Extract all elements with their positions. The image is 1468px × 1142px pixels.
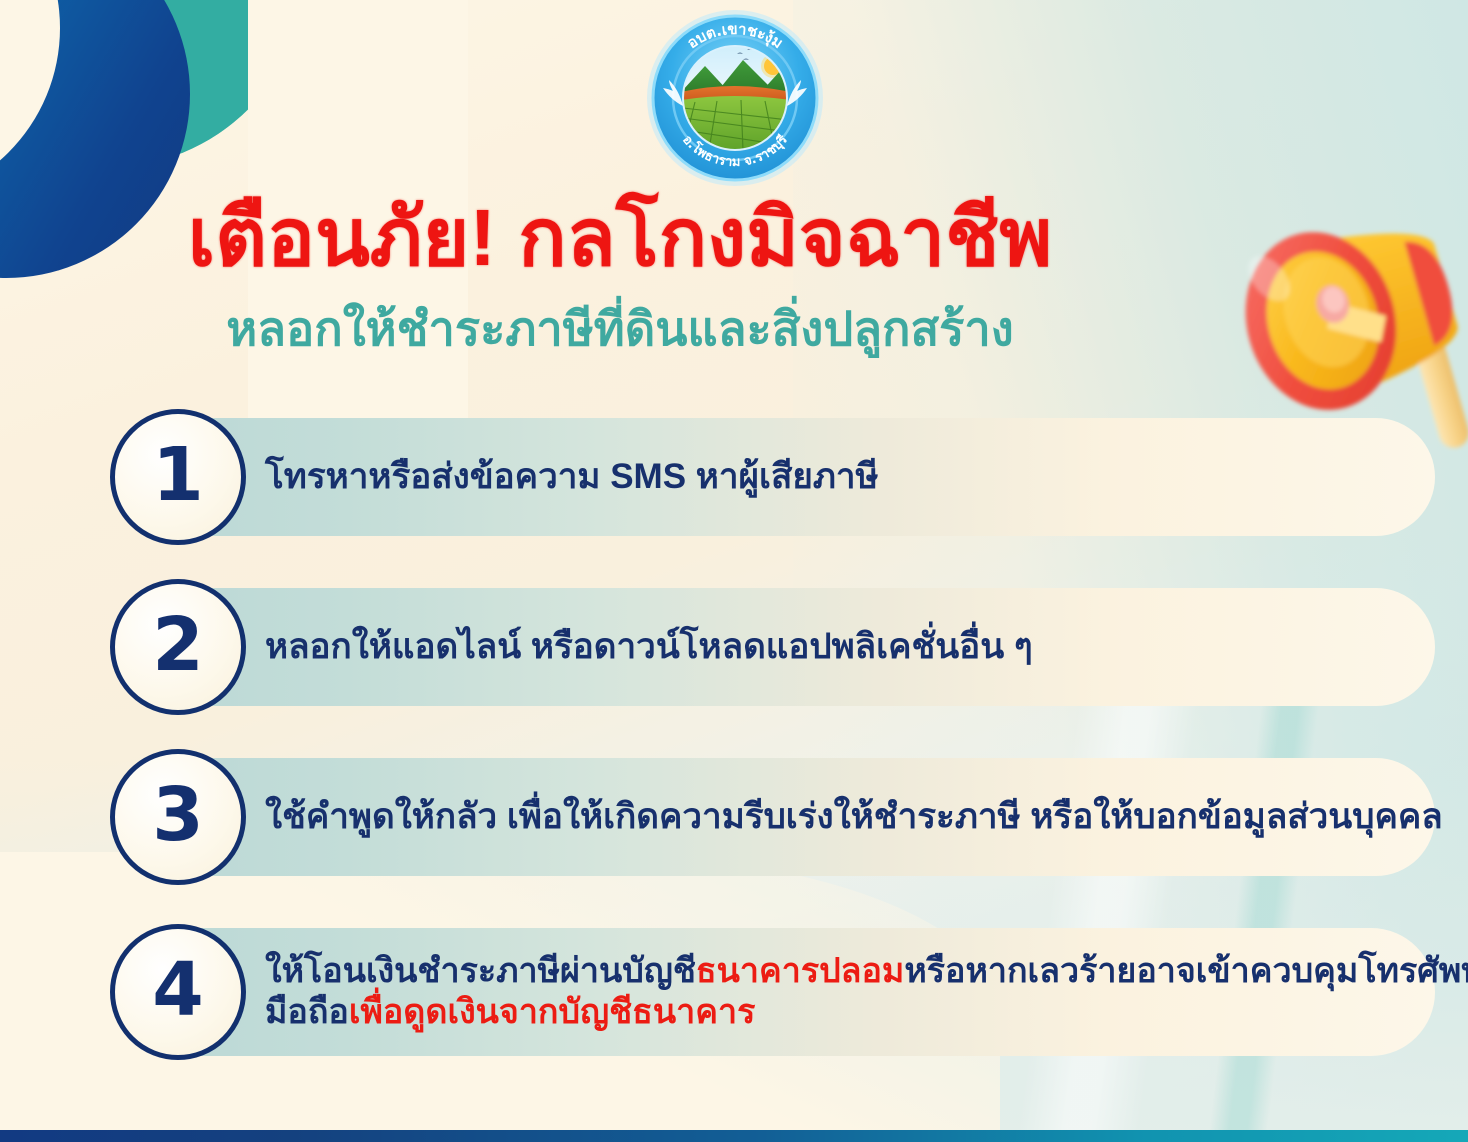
logo-emblem-icon: อบต.เขาชะงุ้ม อ.โพธาราม จ.ราชบุรี (633, 8, 838, 188)
text-segment: โทรหาหรือส่งข้อความ SMS หาผู้เสียภาษี (265, 457, 879, 496)
text-segment-highlighted: ธนาคารปลอม (696, 952, 904, 990)
list-item-text: หลอกให้แอดไลน์ หรือดาวน์โหลดแอปพลิเคชั่น… (265, 588, 1033, 706)
text-segment-highlighted: เพื่อดูดเงินจากบัญชีธนาคาร (349, 993, 756, 1031)
list-item-number-badge: 2 (110, 579, 246, 715)
list-item-number: 4 (152, 953, 204, 1027)
list-item-line: ใช้คำพูดให้กลัว เพื่อให้เกิดความรีบเร่งใ… (265, 796, 1443, 839)
list-item-number: 3 (152, 778, 204, 852)
list-item-text: ใช้คำพูดให้กลัว เพื่อให้เกิดความรีบเร่งใ… (265, 758, 1443, 876)
list-item-text: โทรหาหรือส่งข้อความ SMS หาผู้เสียภาษี (265, 418, 879, 536)
list-item-number: 2 (152, 608, 204, 682)
bottom-accent-strip (0, 1130, 1468, 1142)
list-item-line: หลอกให้แอดไลน์ หรือดาวน์โหลดแอปพลิเคชั่น… (265, 626, 1033, 669)
list-item-line: มือถือเพื่อดูดเงินจากบัญชีธนาคาร (265, 992, 1468, 1033)
text-segment: ใช้คำพูดให้กลัว เพื่อให้เกิดความรีบเร่งใ… (265, 797, 1443, 836)
list-item-number-badge: 1 (110, 409, 246, 545)
list-item-line: ให้โอนเงินชำระภาษีผ่านบัญชีธนาคารปลอมหรื… (265, 951, 1468, 992)
text-segment: ให้โอนเงินชำระภาษีผ่านบัญชี (265, 952, 696, 990)
list-item-text: ให้โอนเงินชำระภาษีผ่านบัญชีธนาคารปลอมหรื… (265, 928, 1468, 1056)
page-subtitle: หลอกให้ชำระภาษีที่ดินและสิ่งปลูกสร้าง (0, 303, 1240, 355)
list-item-number-badge: 3 (110, 749, 246, 885)
organization-logo: อบต.เขาชะงุ้ม อ.โพธาราม จ.ราชบุรี (633, 8, 838, 188)
page-title: เตือนภัย! กลโกงมิจฉาชีพ (0, 196, 1240, 280)
list-item-number-badge: 4 (110, 924, 246, 1060)
text-segment: หลอกให้แอดไลน์ หรือดาวน์โหลดแอปพลิเคชั่น… (265, 627, 1033, 666)
text-segment: มือถือ (265, 993, 349, 1031)
text-segment: หรือหากเลวร้ายอาจเข้าควบคุมโทรศัพท์ (904, 952, 1468, 990)
list-item-line: โทรหาหรือส่งข้อความ SMS หาผู้เสียภาษี (265, 456, 879, 499)
list-item-number: 1 (152, 438, 204, 512)
